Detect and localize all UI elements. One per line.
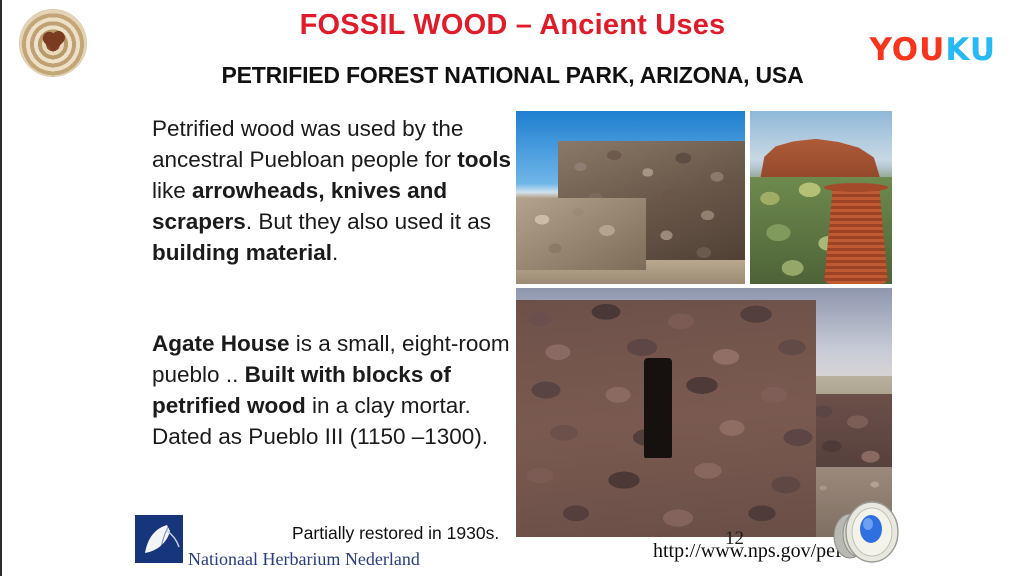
photo-agate-doorway	[644, 358, 672, 458]
youku-watermark-you: YOU	[869, 32, 945, 68]
page-number: 12	[725, 528, 744, 550]
text-segment: .	[332, 240, 338, 265]
photo-caption: Partially restored in 1930s.	[292, 523, 499, 544]
herbarium-name: Nationaal Herbarium Nederland	[188, 549, 420, 570]
youku-watermark-ku: KU	[945, 32, 996, 68]
herbarium-logo	[135, 515, 183, 563]
speaker-icon[interactable]	[824, 492, 908, 568]
text-segment: . But they also used it as	[246, 209, 491, 234]
presentation-slide: FOSSIL WOOD – Ancient Uses PETRIFIED FOR…	[0, 0, 1021, 576]
text-segment: Agate House	[152, 331, 290, 356]
text-segment: Petrified wood was used by the ancestral…	[152, 116, 463, 172]
photo-stone-wall-ruin	[516, 111, 745, 284]
photo-mesa-and-pot	[750, 111, 892, 284]
leaf-icon	[137, 517, 181, 561]
photo-mesa-pot-rim	[824, 183, 888, 192]
text-segment: like	[152, 178, 192, 203]
body-paragraph-2: Agate House is a small, eight-room puebl…	[152, 328, 512, 452]
text-segment: tools	[457, 147, 511, 172]
youku-watermark: YOUKU	[869, 32, 996, 68]
body-paragraph-1: Petrified wood was used by the ancestral…	[152, 113, 512, 268]
photo-mesa-pot	[824, 185, 888, 284]
text-segment: building material	[152, 240, 332, 265]
source-url: http://www.nps.gov/pefo	[653, 540, 852, 563]
photo-stone-wall-rubble	[516, 198, 646, 270]
